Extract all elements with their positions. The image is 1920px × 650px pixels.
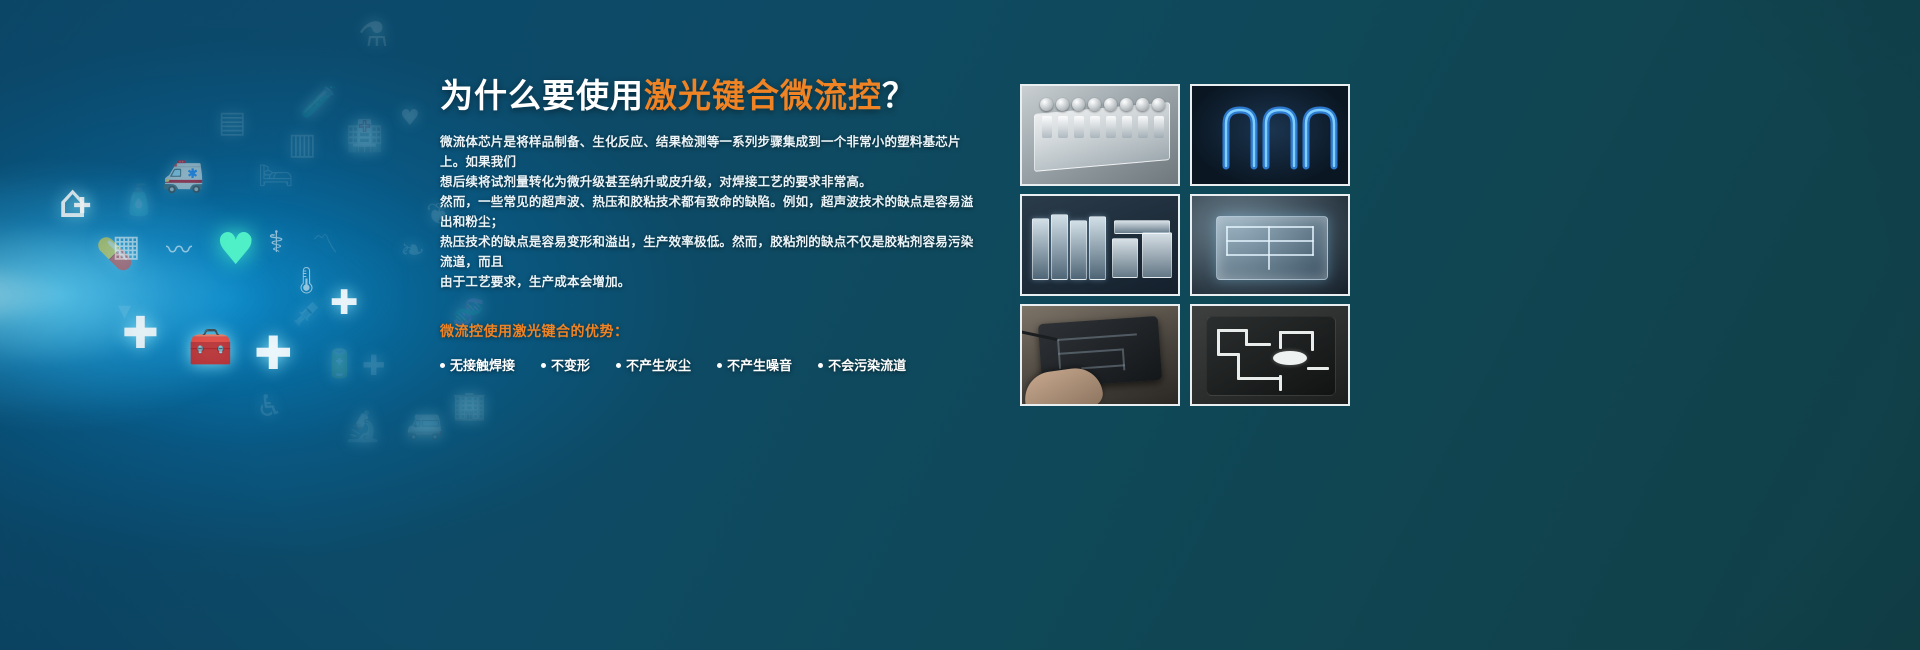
heart-pulse-icon: ♥ [216,228,255,272]
advantages-list: 无接触焊接 不变形 不产生灰尘 不产生噪音 不会污染流道 [440,355,980,374]
hospital-icon: 🏥 [346,122,383,152]
black-cassette-channels-image [1192,306,1348,404]
cross-small-icon: ✚ [362,352,385,380]
bullet-dot-icon [818,363,823,368]
advantage-label: 不会污染流道 [828,358,906,373]
syringe-icon: 💉 [292,300,324,326]
heart-small-icon: ♥ [400,108,420,130]
wheelchair-icon: ♿ [256,392,283,422]
title-lead: 为什么要使用 [440,77,644,114]
ambulance-side-icon: 🚐 [406,410,443,440]
advantage-item: 不变形 [541,355,590,374]
bullet-dot-icon [616,363,621,368]
title-question-mark: ？ [882,77,916,114]
glowing-serpentine-channel-image [1192,86,1348,184]
building-icon: 🏢 [452,392,487,420]
id-card-icon: ▤ [218,108,246,138]
bullet-dot-icon [440,363,445,368]
clear-chip-strip-image [1022,86,1178,184]
test-tube-icon: 🧪 [300,88,337,118]
product-photo-grid [1020,84,1350,406]
lab-rack-icon: ▦ [112,232,140,262]
home-cross-icon: ⌂ [58,178,87,224]
ecg-line-icon: 〰 [166,238,192,264]
hospital-bed-icon: 🛏 [258,162,294,190]
tooth-icon: ▾ [118,298,131,324]
kidney-organ-icon: ❧ [400,236,425,266]
flask-icon: ⚗ [358,18,388,52]
body-copy: 微流体芯片是将样品制备、生化反应、结果检测等一系列步骤集成到一个非常小的塑料基芯… [440,132,980,292]
stethoscope-icon: ⚕ [268,228,284,258]
product-photo-4[interactable] [1190,194,1350,296]
ambulance-icon: 🚑 [162,158,204,192]
transparent-chip-row-image [1022,196,1178,294]
advantage-label: 不产生灰尘 [626,358,691,373]
light-beam [0,180,400,410]
hospital-sign-icon: ✚ [330,286,359,320]
advantage-item: 无接触焊接 [440,355,515,374]
advantage-item: 不产生噪音 [717,355,792,374]
advantages-subheading: 微流控使用激光键合的优势： [440,321,980,341]
clipboard-icon: ▥ [288,130,316,160]
hand-holding-chip-image [1022,306,1178,404]
advantage-label: 无接触焊接 [450,358,515,373]
glossy-channel-block-image [1192,196,1348,294]
medical-cross-icon: ✚ [122,312,159,356]
banner-root: ⚗ 🧪 ▤ ▥ 🏥 ♥ ❦ 🛏 🚑 🧴 ⌂ ✚ 💊 ▦ ♥ 〰 ⚕ 〽 ❧ ▾ … [0,0,1920,650]
body-line-3: 然而，一些常见的超声波、热压和胶粘技术都有致命的缺陷。例如，超声波技术的缺点是容… [440,192,980,232]
pills-bottle-icon: 🧴 [120,186,157,216]
cassette-body [1206,316,1336,396]
advantage-label: 不产生噪音 [727,358,792,373]
body-line-5: 由于工艺要求，生产成本会增加。 [440,272,980,292]
microscope-icon: 🔬 [344,412,381,442]
bullet-dot-icon [541,363,546,368]
thermometer-icon: 🌡 [290,268,323,294]
ecg-monitor-icon: 〽 [312,232,338,258]
cross-in-home-icon: ✚ [73,196,91,218]
title-highlight: 激光键合微流控 [644,77,882,114]
body-line-1: 微流体芯片是将样品制备、生化反应、结果检测等一系列步骤集成到一个非常小的塑料基芯… [440,132,980,172]
first-aid-kit-icon: 🧰 [188,330,233,366]
product-photo-6[interactable] [1190,304,1350,406]
bullet-dot-icon [717,363,722,368]
product-photo-3[interactable] [1020,194,1180,296]
body-line-2: 想后续将试剂量转化为微升级甚至纳升或皮升级，对焊接工艺的要求非常高。 [440,172,980,192]
text-column: 为什么要使用激光键合微流控？ 微流体芯片是将样品制备、生化反应、结果检测等一系列… [440,78,980,374]
product-photo-2[interactable] [1190,84,1350,186]
body-line-4: 热压技术的缺点是容易变形和溢出，生产效率极低。然而，胶粘剂的缺点不仅是胶粘剂容易… [440,232,980,272]
advantage-label: 不变形 [551,358,590,373]
advantage-item: 不产生灰尘 [616,355,691,374]
pill-capsule-icon: 💊 [96,240,133,270]
advantage-item: 不会污染流道 [818,355,906,374]
product-photo-5[interactable] [1020,304,1180,406]
product-photo-1[interactable] [1020,84,1180,186]
battery-icon: 🔋 [322,350,357,378]
cross-large-icon: ✚ [254,330,293,376]
page-title: 为什么要使用激光键合微流控？ [440,78,980,115]
